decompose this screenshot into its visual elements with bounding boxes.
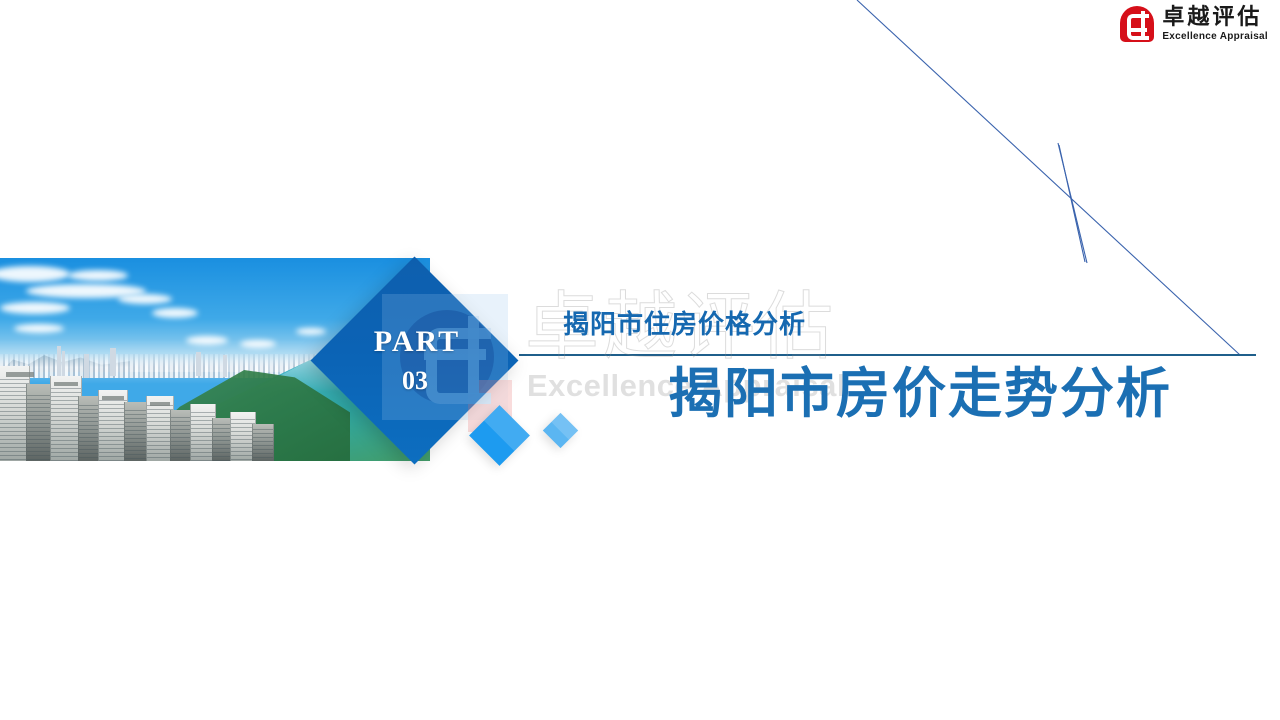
- slide-canvas: PART 03 卓越评估 Excellence Appraisal 揭阳市住房价…: [0, 0, 1280, 720]
- diagonal-line-short: [1059, 145, 1085, 262]
- brand-name-cn: 卓越评估: [1162, 6, 1268, 28]
- horizontal-rule: [519, 354, 1256, 356]
- diagonal-line-short-b: [1059, 145, 1086, 263]
- diagonal-line-long: [857, 0, 1240, 355]
- brand-name-en: Excellence Appraisal: [1162, 32, 1268, 42]
- part-number: 03: [402, 368, 428, 394]
- section-main-title: 揭阳市房价走势分析: [668, 367, 1172, 421]
- brand-logo: 卓越评估 Excellence Appraisal: [1120, 6, 1268, 42]
- section-subtitle: 揭阳市住房价格分析: [563, 311, 806, 337]
- accent-diamond-small: [543, 413, 578, 448]
- company-logo-icon: [1120, 6, 1154, 42]
- part-label: PART: [374, 327, 460, 357]
